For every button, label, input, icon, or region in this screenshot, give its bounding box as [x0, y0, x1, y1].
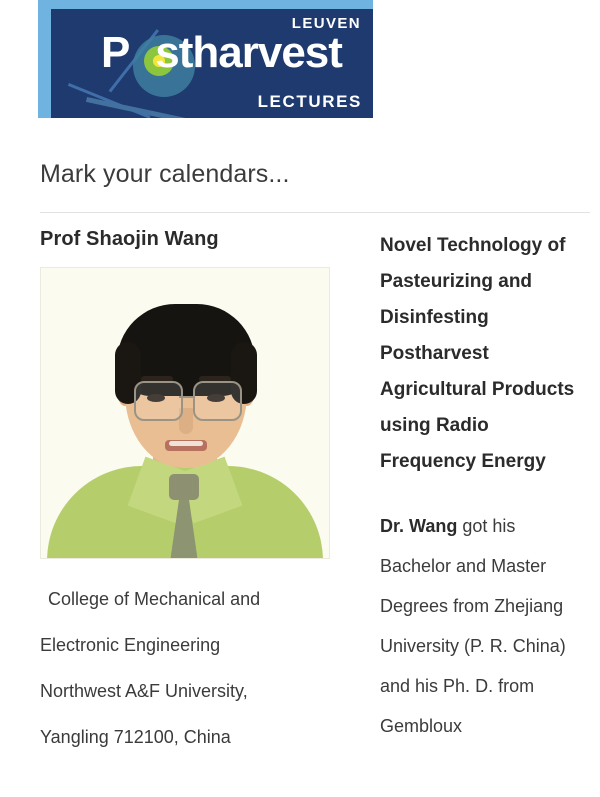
talk-title: Novel Technology of Pasteurizing and Dis… — [380, 228, 585, 480]
talk-column: Novel Technology of Pasteurizing and Dis… — [380, 228, 585, 746]
logo-wordmark-suffix: stharvest — [155, 28, 342, 77]
speaker-name: Prof Shaojin Wang — [40, 228, 340, 251]
logo-navy-panel: LEUVEN Postharvest LECTURES — [51, 9, 373, 118]
header-divider — [40, 212, 590, 213]
speaker-bio: Dr. Wang got his Bachelor and Master Deg… — [380, 506, 585, 746]
portrait-glasses-lens-right — [193, 381, 242, 421]
portrait-teeth — [169, 441, 203, 446]
portrait-glasses-bridge — [179, 396, 193, 398]
portrait-tie-knot — [169, 474, 199, 500]
speaker-column: Prof Shaojin Wang College of Mechanical … — [40, 228, 340, 757]
logo-lectures-text: LECTURES — [258, 92, 362, 112]
logo-wordmark: Postharvest — [101, 31, 342, 75]
logo-wordmark-prefix: P — [101, 28, 129, 77]
affiliation-line-4: Yangling 712100, China — [40, 717, 340, 757]
postharvest-lectures-logo: LEUVEN Postharvest LECTURES — [38, 0, 373, 118]
speaker-portrait-photo — [40, 267, 330, 559]
affiliation-line-2: Electronic Engineering — [40, 625, 340, 665]
portrait-glasses-lens-left — [134, 381, 183, 421]
page-title: Mark your calendars... — [40, 160, 290, 189]
affiliation-line-1: College of Mechanical and — [48, 579, 340, 619]
affiliation-line-3: Northwest A&F University, — [40, 671, 340, 711]
bio-lead-name: Dr. Wang — [380, 516, 457, 536]
